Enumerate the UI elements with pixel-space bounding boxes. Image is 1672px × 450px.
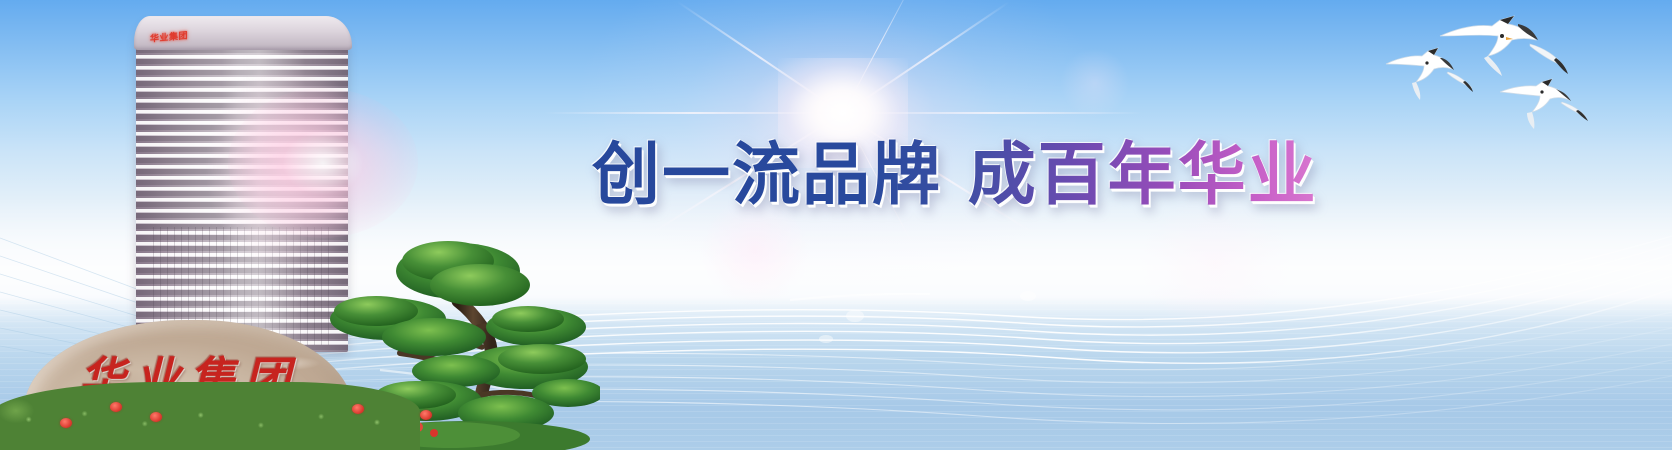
tower-glass-sheen bbox=[136, 22, 348, 352]
seagull-icon bbox=[1440, 16, 1568, 76]
tower-body bbox=[136, 22, 348, 352]
hedge-foliage bbox=[0, 382, 420, 450]
hero-banner: 华业集团 bbox=[0, 0, 1672, 450]
flower-icon bbox=[420, 410, 432, 420]
seagull-group bbox=[1382, 0, 1672, 130]
flower-icon bbox=[150, 412, 162, 422]
flower-icon bbox=[110, 402, 122, 412]
flower-icon bbox=[352, 404, 364, 414]
flower-icon bbox=[60, 418, 72, 428]
skyscraper: 华业集团 bbox=[136, 22, 348, 352]
headline: 创一流品牌 成百年华业 创一流品牌 成百年华业 bbox=[592, 133, 1352, 219]
headline-text: 创一流品牌 成百年华业 bbox=[592, 133, 1318, 219]
seagull-icon bbox=[1386, 48, 1473, 100]
hedge-highlights bbox=[0, 382, 420, 450]
seagull-icon bbox=[1500, 79, 1588, 129]
